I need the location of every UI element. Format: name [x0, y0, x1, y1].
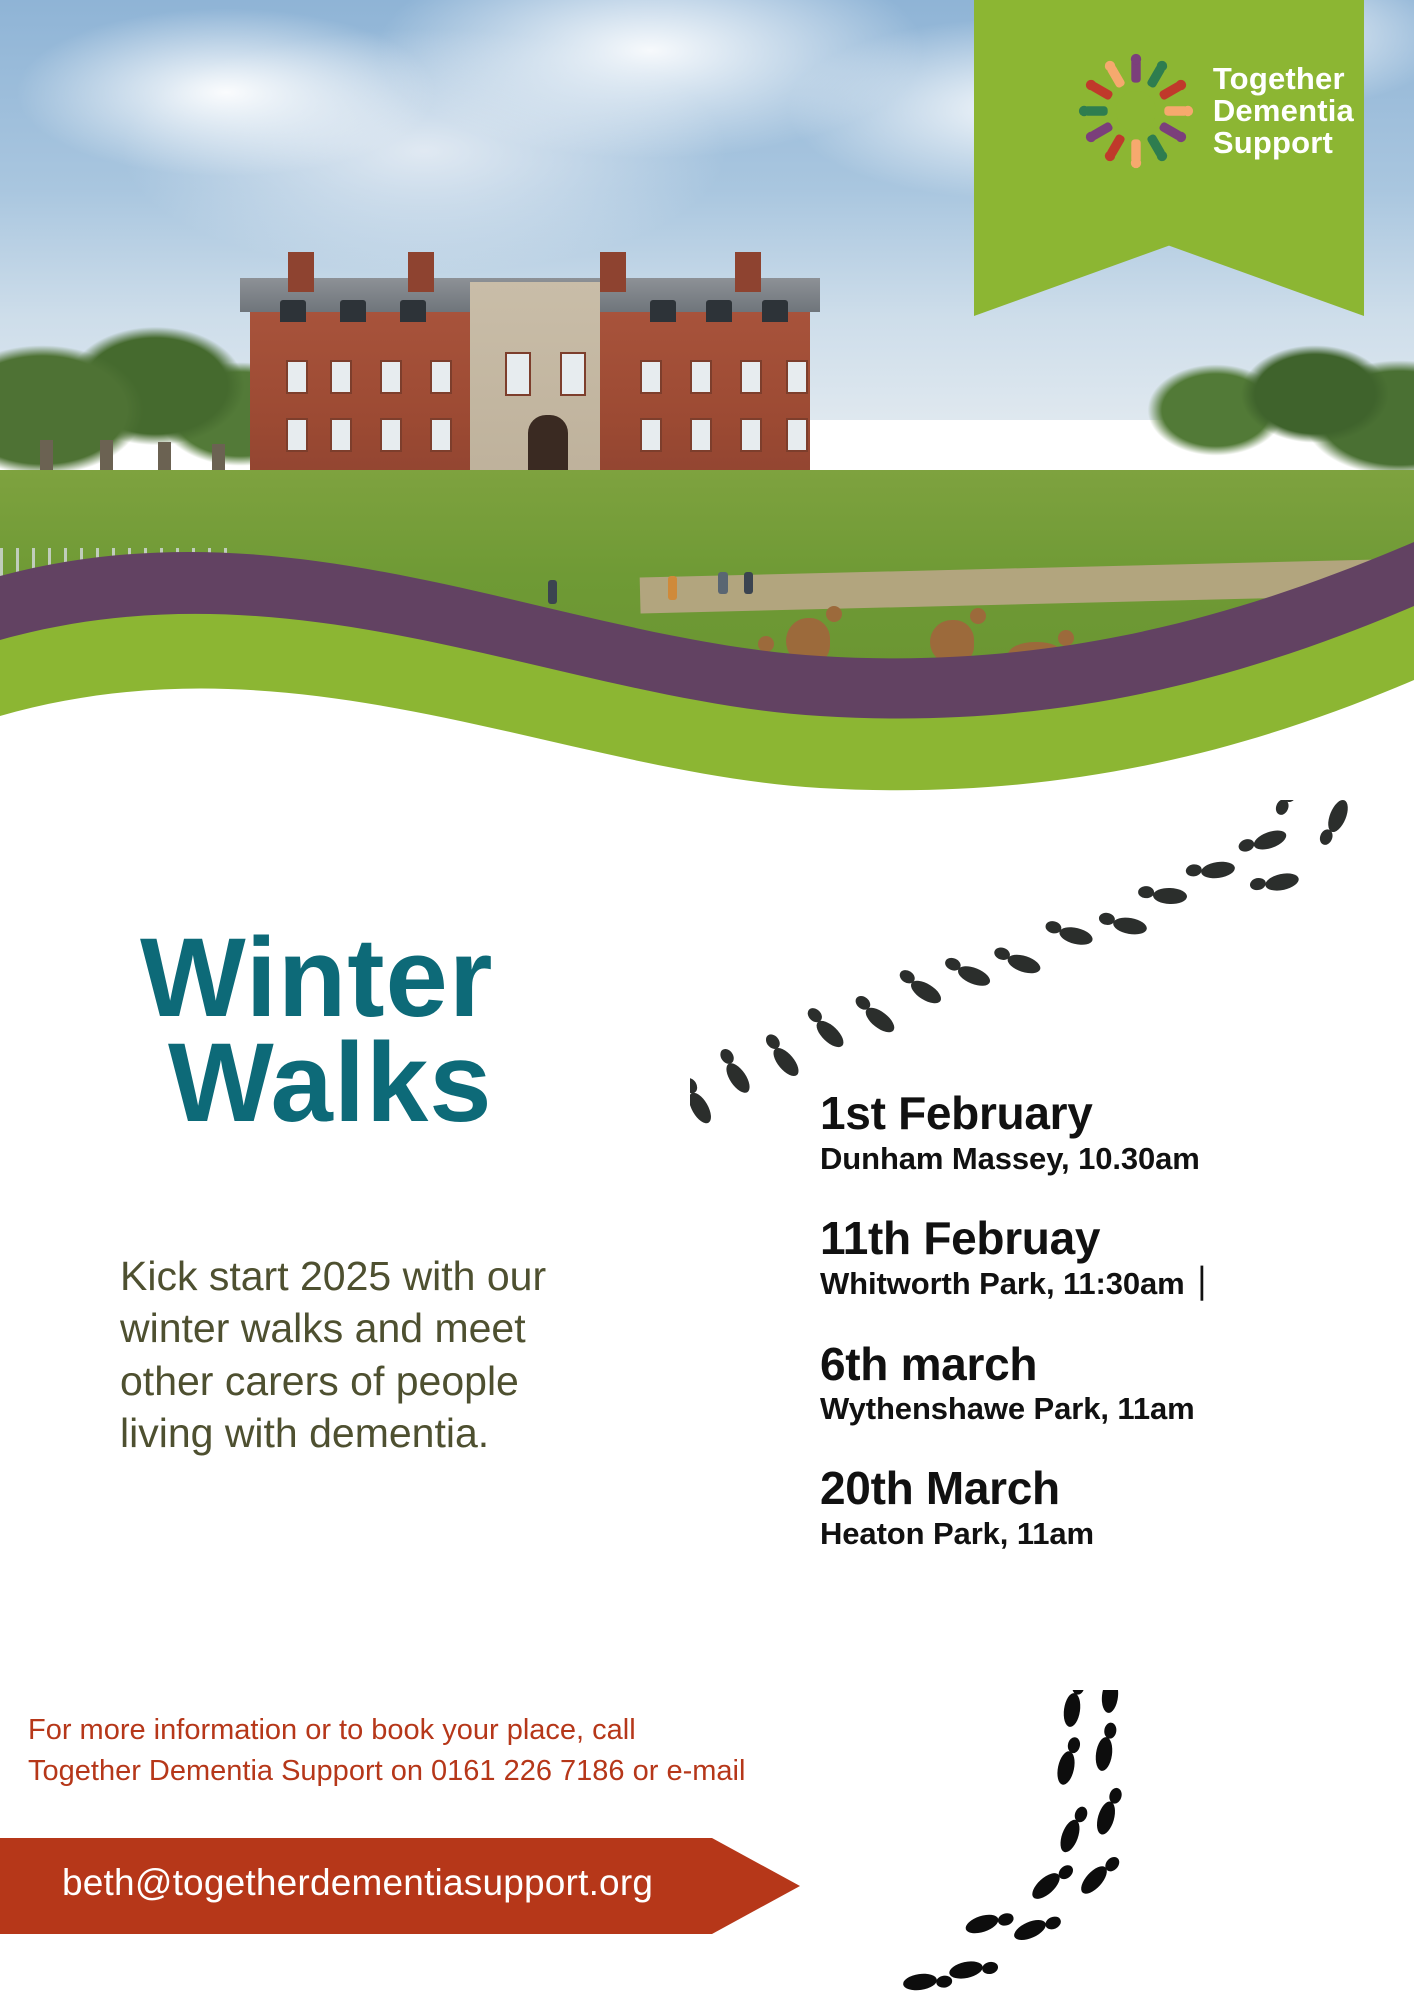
- window: [330, 418, 352, 452]
- window: [690, 418, 712, 452]
- window: [690, 360, 712, 394]
- dormer-window: [340, 300, 366, 322]
- list-item[interactable]: 11th Februay Whitworth Park, 11:30am ⏐: [820, 1215, 1340, 1303]
- wave-divider: [0, 480, 1414, 800]
- page-title: Winter Walks: [140, 925, 493, 1136]
- footprint-trail-bottom: [820, 1690, 1150, 2000]
- walk-location: Dunham Massey, 10.30am: [820, 1141, 1340, 1177]
- window: [380, 360, 402, 394]
- window: [430, 418, 452, 452]
- chimney: [735, 252, 761, 292]
- chimney: [408, 252, 434, 292]
- walk-date: 6th march: [820, 1341, 1340, 1389]
- window: [640, 360, 662, 394]
- logo-line-2: Dementia: [1213, 95, 1354, 127]
- logo-line-3: Support: [1213, 127, 1354, 159]
- intro-paragraph: Kick start 2025 with our winter walks an…: [120, 1250, 550, 1460]
- dormer-window: [280, 300, 306, 322]
- contact-info: For more information or to book your pla…: [28, 1710, 788, 1792]
- window: [286, 360, 308, 394]
- dormer-window: [762, 300, 788, 322]
- email-address[interactable]: beth@togetherdementiasupport.org: [62, 1862, 653, 1904]
- contact-line-2: Together Dementia Support on 0161 226 71…: [28, 1751, 788, 1792]
- dormer-window: [400, 300, 426, 322]
- title-line-2: Walks: [168, 1030, 493, 1135]
- walk-date: 11th Februay: [820, 1215, 1340, 1263]
- people-circle-icon: [1077, 52, 1195, 170]
- chimney: [600, 252, 626, 292]
- window: [786, 418, 808, 452]
- window: [786, 360, 808, 394]
- window: [505, 352, 531, 396]
- walk-date: 20th March: [820, 1465, 1340, 1513]
- window: [286, 418, 308, 452]
- window: [330, 360, 352, 394]
- chimney: [288, 252, 314, 292]
- window: [740, 360, 762, 394]
- walk-location: Wythenshawe Park, 11am: [820, 1391, 1340, 1427]
- walk-location: Whitworth Park, 11:30am ⏐: [820, 1266, 1340, 1303]
- poster: Together Dementia Support Winter Walks K…: [0, 0, 1414, 2000]
- walk-dates-list: 1st February Dunham Massey, 10.30am 11th…: [820, 1090, 1340, 1590]
- logo-wordmark: Together Dementia Support: [1213, 63, 1354, 160]
- window: [380, 418, 402, 452]
- list-item[interactable]: 20th March Heaton Park, 11am: [820, 1465, 1340, 1552]
- logo: Together Dementia Support: [1077, 52, 1354, 170]
- logo-line-1: Together: [1213, 63, 1354, 95]
- window: [740, 418, 762, 452]
- dormer-window: [650, 300, 676, 322]
- window: [560, 352, 586, 396]
- list-item[interactable]: 6th march Wythenshawe Park, 11am: [820, 1341, 1340, 1428]
- content-area: Winter Walks Kick start 2025 with our wi…: [0, 760, 1414, 2000]
- window: [640, 418, 662, 452]
- walk-location: Heaton Park, 11am: [820, 1516, 1340, 1552]
- dormer-window: [706, 300, 732, 322]
- window: [430, 360, 452, 394]
- contact-line-1: For more information or to book your pla…: [28, 1710, 788, 1751]
